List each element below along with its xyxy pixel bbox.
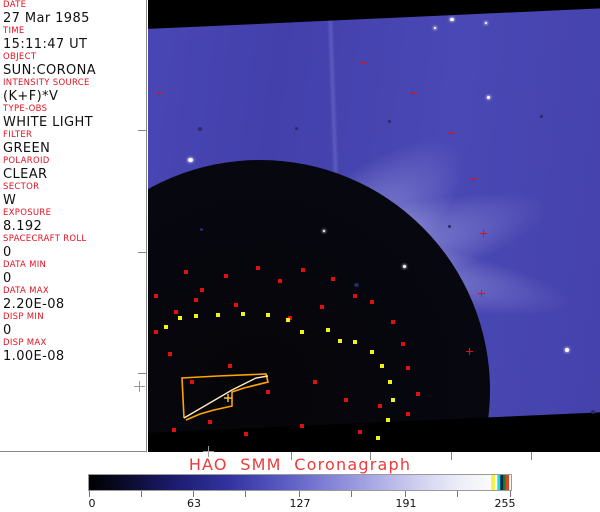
marker-dot-yellow — [216, 313, 220, 317]
marker-dot-red — [172, 428, 176, 432]
marker-dot-yellow — [178, 316, 182, 320]
marker-dot-red — [154, 294, 158, 298]
marker-dot-red — [174, 310, 178, 314]
metadata-field: SECTOR W — [0, 182, 146, 208]
marker-plus-red — [360, 60, 367, 67]
sky-field — [148, 0, 600, 452]
polygon-outline — [182, 374, 268, 420]
colorbar-label: 191 — [396, 497, 417, 510]
region-polygon-annotation[interactable] — [178, 360, 298, 430]
axis-tick-left — [138, 373, 147, 374]
metadata-label: POLAROID — [3, 156, 146, 167]
marker-dot-yellow — [370, 350, 374, 354]
metadata-value: W — [3, 193, 146, 208]
metadata-value: 2.20E-08 — [3, 297, 146, 312]
marker-dot-red — [234, 303, 238, 307]
metadata-field: OBJECT SUN:CORONA — [0, 52, 146, 78]
metadata-label: FILTER — [3, 130, 146, 141]
marker-dot-red — [256, 266, 260, 270]
metadata-label: DATA MIN — [3, 260, 146, 271]
marker-dot-red — [184, 270, 188, 274]
metadata-field: DATE 27 Mar 1985 — [0, 0, 146, 26]
metadata-value: 0 — [3, 271, 146, 286]
marker-dot-yellow — [388, 380, 392, 384]
marker-dot-yellow — [241, 312, 245, 316]
marker-dot-yellow — [164, 325, 168, 329]
star-point — [403, 265, 406, 268]
marker-dot-red — [278, 279, 282, 283]
marker-plus-red — [156, 90, 163, 97]
metadata-field: DATA MAX 2.20E-08 — [0, 286, 146, 312]
marker-dot-yellow — [326, 328, 330, 332]
marker-plus-red — [480, 230, 487, 237]
marker-dot-red — [406, 366, 410, 370]
marker-dot-yellow — [286, 318, 290, 322]
metadata-value: 1.00E-08 — [3, 349, 146, 364]
marker-dot-red — [244, 432, 248, 436]
dark-speck — [540, 115, 543, 118]
marker-dot-red — [378, 404, 382, 408]
marker-dot-red — [401, 342, 405, 346]
axis-plus-marker-left — [134, 381, 145, 392]
metadata-field: TYPE-OBS WHITE LIGHT — [0, 104, 146, 130]
marker-dot-red — [353, 294, 357, 298]
colorbar-label: 63 — [187, 497, 201, 510]
marker-plus-red — [410, 90, 417, 97]
marker-dot-yellow — [380, 364, 384, 368]
metadata-field: FILTER GREEN — [0, 130, 146, 156]
marker-dot-red — [168, 352, 172, 356]
metadata-field: POLAROID CLEAR — [0, 156, 146, 182]
comet-like-point — [188, 158, 193, 162]
colorbar-legend[interactable]: 0 63 127 191 255 — [88, 474, 512, 512]
polygon-diagonal — [184, 376, 268, 418]
metadata-label: SECTOR — [3, 182, 146, 193]
marker-dot-red — [320, 305, 324, 309]
metadata-label: DISP MAX — [3, 338, 146, 349]
metadata-value: SUN:CORONA — [3, 63, 146, 78]
colorbar-minor-tick — [141, 491, 142, 497]
dark-speck — [198, 127, 202, 131]
colorbar-label: 127 — [290, 497, 311, 510]
dark-speck — [200, 228, 203, 231]
metadata-value: 0 — [3, 245, 146, 260]
marker-plus-red — [466, 348, 473, 355]
marker-dot-yellow — [194, 314, 198, 318]
marker-dot-red — [391, 320, 395, 324]
metadata-panel: DATE 27 Mar 1985 TIME 15:11:47 UT OBJECT… — [0, 0, 147, 452]
star-point — [565, 348, 569, 352]
metadata-value: 0 — [3, 323, 146, 338]
colorbar-label: 255 — [495, 497, 516, 510]
metadata-label: SPACECRAFT ROLL — [3, 234, 146, 245]
marker-dot-yellow — [353, 340, 357, 344]
page-title: HAO SMM Coronagraph — [0, 455, 600, 474]
marker-dot-red — [300, 424, 304, 428]
marker-plus-red — [478, 290, 485, 297]
star-point — [434, 27, 436, 29]
metadata-value: GREEN — [3, 141, 146, 156]
metadata-value: 8.192 — [3, 219, 146, 234]
metadata-label: OBJECT — [3, 52, 146, 63]
marker-dot-red — [313, 380, 317, 384]
colorbar-minor-tick — [351, 491, 352, 497]
marker-plus-red — [448, 130, 455, 137]
colorbar-minor-tick — [457, 491, 458, 497]
metadata-value: 15:11:47 UT — [3, 37, 146, 52]
star-point — [485, 22, 487, 24]
marker-dot-yellow — [386, 418, 390, 422]
metadata-value: WHITE LIGHT — [3, 115, 146, 130]
marker-dot-red — [200, 288, 204, 292]
dark-speck — [354, 283, 359, 287]
metadata-field: TIME 15:11:47 UT — [0, 26, 146, 52]
metadata-label: TIME — [3, 26, 146, 37]
marker-dot-red — [194, 298, 198, 302]
metadata-field: EXPOSURE 8.192 — [0, 208, 146, 234]
metadata-field: SPACECRAFT ROLL 0 — [0, 234, 146, 260]
metadata-field: DISP MIN 0 — [0, 312, 146, 338]
metadata-value: 27 Mar 1985 — [3, 11, 146, 26]
star-point — [450, 18, 454, 21]
colorbar-label: 0 — [89, 497, 96, 510]
star-point — [323, 230, 325, 232]
metadata-value: CLEAR — [3, 167, 146, 182]
metadata-label: DATE — [3, 0, 146, 11]
marker-dot-red — [331, 277, 335, 281]
dark-speck — [388, 120, 391, 123]
marker-dot-red — [224, 274, 228, 278]
colorbar-gradient[interactable] — [88, 474, 512, 491]
coronagraph-viewer: DATE 27 Mar 1985 TIME 15:11:47 UT OBJECT… — [0, 0, 600, 512]
dark-speck — [591, 410, 595, 414]
dark-speck — [448, 225, 451, 228]
metadata-label: DATA MAX — [3, 286, 146, 297]
star-point — [487, 96, 490, 99]
marker-dot-red — [416, 392, 420, 396]
axis-tick-left — [138, 252, 147, 253]
colorbar-minor-tick — [245, 491, 246, 497]
metadata-label: INTENSITY SOURCE — [3, 78, 146, 89]
marker-dot-red — [370, 300, 374, 304]
metadata-label: DISP MIN — [3, 312, 146, 323]
axis-tick-left — [138, 130, 147, 131]
marker-dot-yellow — [266, 313, 270, 317]
metadata-value: (K+F)*V — [3, 89, 146, 104]
marker-dot-red — [154, 330, 158, 334]
marker-dot-red — [406, 412, 410, 416]
dark-speck — [295, 127, 298, 130]
marker-plus-red — [470, 176, 477, 183]
metadata-field: INTENSITY SOURCE (K+F)*V — [0, 78, 146, 104]
marker-dot-yellow — [338, 339, 342, 343]
coronagraph-image[interactable] — [148, 0, 600, 452]
marker-dot-yellow — [391, 398, 395, 402]
marker-dot-red — [344, 398, 348, 402]
metadata-label: EXPOSURE — [3, 208, 146, 219]
metadata-label: TYPE-OBS — [3, 104, 146, 115]
marker-dot-yellow — [300, 330, 304, 334]
marker-dot-red — [301, 268, 305, 272]
marker-dot-red — [358, 430, 362, 434]
marker-dot-yellow — [376, 436, 380, 440]
metadata-field: DISP MAX 1.00E-08 — [0, 338, 146, 364]
metadata-field: DATA MIN 0 — [0, 260, 146, 286]
